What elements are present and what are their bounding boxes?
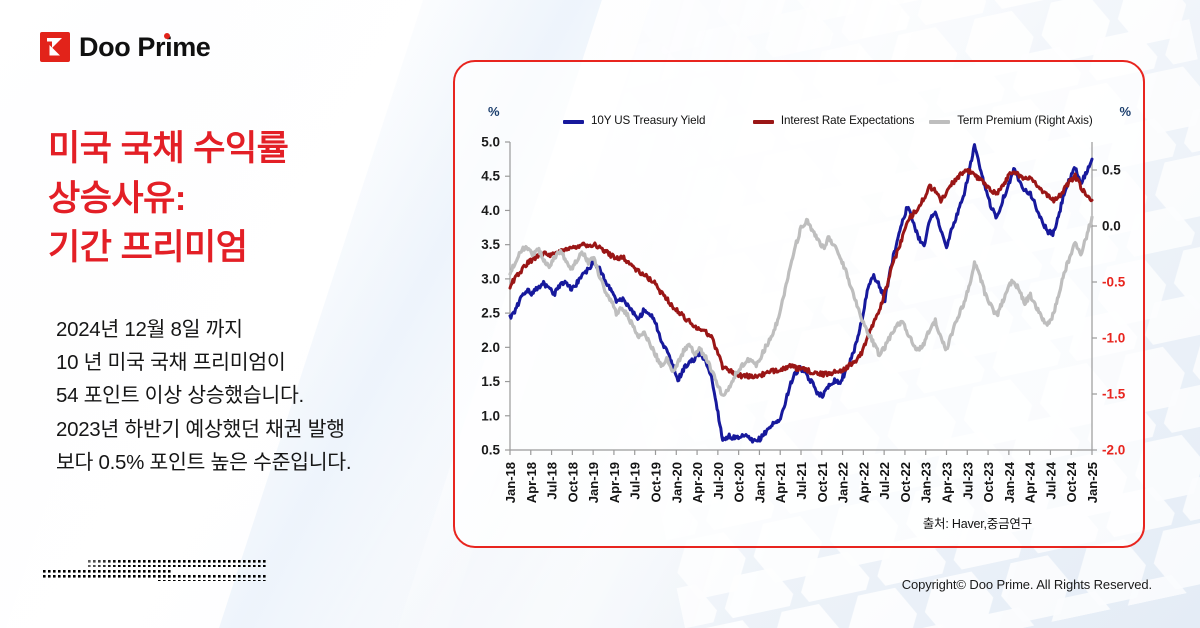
x-axis-tick: Jan-24 (1002, 461, 1017, 503)
y2-axis-tick: 0.0 (1102, 219, 1121, 234)
x-axis-tick: Oct-18 (565, 462, 580, 502)
x-axis-tick: Oct-24 (1064, 461, 1079, 502)
x-axis-tick: Apr-24 (1023, 461, 1038, 503)
x-axis-tick: Apr-19 (607, 462, 622, 503)
poster-canvas: Doo Prime 미국 국채 수익률 상승사유: 기간 프리미엄 2024년 … (0, 0, 1200, 628)
x-axis-tick: Jul-22 (877, 462, 892, 500)
x-axis-tick: Oct-23 (981, 462, 996, 502)
x-axis-tick: Jan-23 (919, 462, 934, 503)
chart-card: % % 10Y US Treasury Yield Interest Rate … (453, 60, 1145, 548)
y-axis-tick: 4.0 (481, 203, 500, 218)
x-axis-tick: Oct-22 (898, 462, 913, 502)
chart-plot: 0.51.01.52.02.53.03.54.04.55.0-2.0-1.5-1… (455, 62, 1147, 550)
y-axis-tick: 5.0 (481, 135, 500, 150)
y-axis-tick: 0.5 (481, 443, 500, 458)
x-axis-tick: Jul-21 (794, 462, 809, 500)
y2-axis-tick: -0.5 (1102, 275, 1126, 290)
x-axis-tick: Apr-21 (773, 462, 788, 503)
x-axis-tick: Jan-18 (503, 462, 518, 503)
headline-line-3: 기간 프리미엄 (48, 223, 428, 273)
y2-axis-tick: -1.5 (1102, 387, 1126, 402)
body-line-3: 54 포인트 이상 상승했습니다. (56, 379, 456, 412)
x-axis-tick: Jul-19 (628, 462, 643, 500)
y-axis-tick: 2.0 (481, 340, 500, 355)
doo-prime-mark-icon (40, 32, 70, 62)
logo-wordmark: Doo Prime (79, 32, 210, 62)
x-axis-tick: Oct-21 (815, 462, 830, 502)
x-axis-tick: Jan-22 (836, 462, 851, 503)
x-axis-tick: Jul-23 (960, 462, 975, 500)
page-title: 미국 국채 수익률 상승사유: 기간 프리미엄 (48, 124, 428, 273)
headline-line-2: 상승사유: (48, 174, 428, 224)
logo-i-dot-icon (164, 33, 170, 39)
x-axis-tick: Apr-22 (856, 462, 871, 503)
body-line-4: 2023년 하반기 예상했던 채권 발행 (56, 413, 456, 446)
y-axis-tick: 4.5 (481, 169, 500, 184)
x-axis-tick: Jan-21 (752, 462, 767, 503)
y-axis-tick: 3.5 (481, 237, 500, 252)
chart-area: % % 10Y US Treasury Yield Interest Rate … (455, 62, 1147, 550)
y-axis-tick: 1.5 (481, 374, 500, 389)
body-line-1: 2024년 12월 8일 까지 (56, 313, 456, 346)
y2-axis-tick: -2.0 (1102, 443, 1125, 458)
y-axis-tick: 3.0 (481, 271, 500, 286)
dot-pattern-decoration (38, 560, 268, 586)
y2-axis-tick: 0.5 (1102, 163, 1121, 178)
logo-wordmark-text: Doo Prime (79, 32, 210, 62)
x-axis-tick: Jul-24 (1043, 461, 1058, 499)
headline-line-1: 미국 국채 수익률 (48, 124, 428, 174)
y2-axis-tick: -1.0 (1102, 331, 1125, 346)
x-axis-tick: Jan-20 (669, 462, 684, 503)
chart-source-note: 출처: Haver,중금연구 (923, 513, 1032, 532)
x-axis-tick: Oct-19 (649, 462, 664, 502)
brand-logo: Doo Prime (40, 32, 210, 62)
y-axis-tick: 2.5 (481, 306, 500, 321)
x-axis-tick: Apr-23 (940, 462, 955, 503)
body-line-5: 보다 0.5% 포인트 높은 수준입니다. (56, 446, 456, 479)
x-axis-tick: Oct-20 (732, 462, 747, 502)
body-copy: 2024년 12월 8일 까지 10 년 미국 국채 프리미엄이 54 포인트 … (56, 313, 456, 479)
copyright-notice: Copyright© Doo Prime. All Rights Reserve… (902, 577, 1152, 592)
x-axis-tick: Jul-20 (711, 462, 726, 500)
y-axis-tick: 1.0 (481, 408, 500, 423)
x-axis-tick: Jul-18 (545, 462, 560, 500)
x-axis-tick: Apr-20 (690, 462, 705, 503)
x-axis-tick: Apr-18 (524, 462, 539, 503)
x-axis-tick: Jan-19 (586, 462, 601, 503)
x-axis-tick: Jan-25 (1085, 462, 1100, 503)
body-line-2: 10 년 미국 국채 프리미엄이 (56, 346, 456, 379)
